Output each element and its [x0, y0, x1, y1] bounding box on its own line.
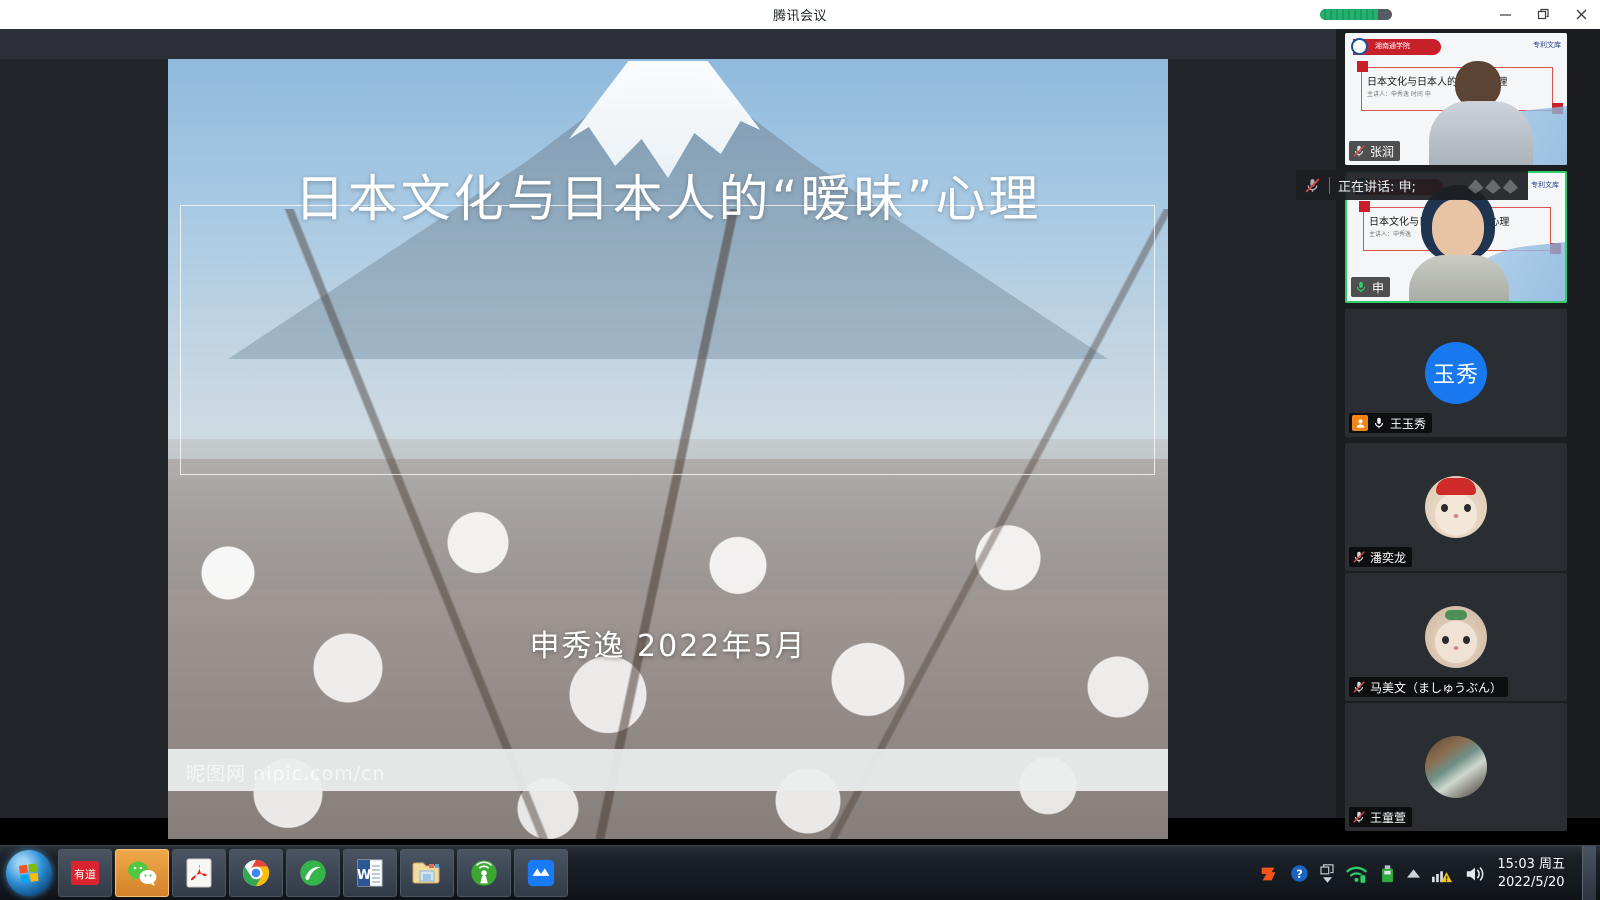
windows-start-orb-icon[interactable] [6, 850, 52, 896]
minimize-button[interactable] [1486, 0, 1524, 29]
participant-badge: 王玉秀 [1349, 413, 1432, 433]
audio-level-meter [1320, 9, 1392, 20]
taskbar-item-radio-app[interactable] [457, 849, 511, 897]
taskbar-item-360-browser[interactable] [286, 849, 340, 897]
mic-muted-icon [1352, 550, 1366, 564]
slide-watermark: 昵图网 nipic.com/cn [186, 759, 386, 786]
participant-tile[interactable]: 马美文（ましゅうぶん） [1345, 573, 1567, 701]
taskbar-item-file-explorer[interactable] [400, 849, 454, 897]
participant-badge: 王童萱 [1349, 807, 1412, 827]
slide-title: 日本文化与日本人的“暧昧”心理 [168, 159, 1168, 231]
thumb-banner-text: 湘南通学院 [1375, 41, 1410, 51]
participant-tile[interactable]: 王童萱 [1345, 703, 1567, 831]
avatar [1425, 736, 1487, 798]
participant-name: 张润 [1370, 143, 1394, 160]
participant-name: 潘奕龙 [1370, 549, 1406, 566]
show-desktop-button[interactable] [1582, 846, 1596, 900]
toast-decoration-icon [1464, 174, 1522, 196]
system-tray[interactable]: ? [1259, 846, 1600, 900]
avatar-eye-right [1463, 636, 1470, 644]
thumb-subtitle: 主讲人：申秀逸 时间 申 [1367, 89, 1431, 98]
slide-title-frame [180, 205, 1155, 475]
host-icon [1352, 415, 1368, 431]
mic-on-icon [1372, 416, 1386, 430]
participant-badge: 申 [1351, 277, 1390, 297]
title-bar: 腾讯会议 [0, 0, 1600, 29]
participant-badge: 张润 [1349, 141, 1400, 161]
windows-taskbar[interactable]: 有道 [0, 845, 1600, 900]
meeting-app-window: 腾讯会议 [0, 0, 1600, 900]
thumb-square-marker [1359, 201, 1370, 212]
thumb-square-marker [1357, 61, 1368, 72]
avatar-eye-right [1464, 504, 1471, 512]
mic-on-icon [1354, 280, 1368, 294]
taskbar-item-chrome[interactable] [229, 849, 283, 897]
close-button[interactable] [1562, 0, 1600, 29]
usb-tray-icon[interactable] [1379, 864, 1396, 884]
avatar-nose [1454, 514, 1459, 518]
avatar [1425, 476, 1487, 538]
show-hidden-icons[interactable] [1407, 869, 1420, 878]
participant-tile[interactable]: 潘奕龙 [1345, 443, 1567, 571]
shared-screen-area: 日本文化与日本人的“暧昧”心理 申秀逸 2022年5月 昵图网 nipic.co… [0, 29, 1336, 818]
participant-panel[interactable]: 湘南通学院 专利文库 日本文化与日本人的“暧昧”心理 主讲人：申秀逸 时间 申 [1336, 29, 1600, 818]
presentation-slide: 日本文化与日本人的“暧昧”心理 申秀逸 2022年5月 昵图网 nipic.co… [168, 59, 1168, 839]
clock-time: 15:03 周五 [1497, 856, 1565, 874]
clock-date: 2022/5/20 [1497, 874, 1565, 892]
mic-muted-icon [1352, 810, 1366, 824]
taskbar-item-word[interactable]: W [343, 849, 397, 897]
avatar-hat [1436, 478, 1476, 495]
thumb-corner-text: 专利文库 [1533, 40, 1561, 50]
participant-badge: 潘奕龙 [1349, 547, 1412, 567]
avatar-nose [1454, 646, 1459, 650]
taskbar-item-adobe-reader[interactable] [172, 849, 226, 897]
participant-video-body [1409, 255, 1509, 303]
taskbar-item-youdao[interactable]: 有道 [58, 849, 112, 897]
window-tray-icon[interactable] [1320, 864, 1334, 883]
chevron-down-icon[interactable] [1323, 877, 1332, 883]
taskbar-buttons[interactable]: 有道 [58, 849, 568, 897]
toast-divider [1329, 177, 1330, 194]
sogou-tray-icon[interactable] [1259, 864, 1279, 884]
participant-name: 马美文（ましゅうぶん） [1370, 679, 1502, 696]
participant-name: 王童萱 [1370, 809, 1406, 826]
avatar [1425, 606, 1487, 668]
help-tray-icon[interactable]: ? [1290, 864, 1309, 883]
svg-text:有道: 有道 [74, 867, 96, 881]
network-warning-icon[interactable] [1431, 864, 1453, 884]
participant-video-body [1429, 101, 1533, 165]
avatar-initials: 玉秀 [1433, 357, 1479, 389]
share-top-strip [0, 29, 1336, 59]
speaking-toast-text: 正在讲话: 申; [1338, 176, 1416, 195]
participant-tile[interactable]: 湘南通学院 专利文库 日本文化与日本人的“暧昧”心理 主讲人：申秀逸 时间 申 [1345, 33, 1567, 165]
participant-video-face [1432, 199, 1484, 259]
volume-icon[interactable] [1464, 864, 1486, 884]
restore-button[interactable] [1524, 0, 1562, 29]
taskbar-clock[interactable]: 15:03 周五 2022/5/20 [1497, 856, 1565, 891]
window-controls [1486, 0, 1600, 29]
participant-name: 王玉秀 [1390, 415, 1426, 432]
wifi-tray-icon[interactable] [1345, 864, 1368, 884]
avatar-eye-left [1441, 504, 1448, 512]
mic-muted-icon [1352, 680, 1366, 694]
svg-text:?: ? [1297, 868, 1304, 881]
taskbar-item-wechat[interactable] [115, 849, 169, 897]
thumb-subtitle: 主讲人：申秀逸 [1369, 229, 1411, 238]
institution-logo-icon [1351, 38, 1368, 55]
avatar: 玉秀 [1425, 342, 1487, 404]
participant-tile[interactable]: 玉秀 王玉秀 [1345, 309, 1567, 437]
mic-muted-icon [1304, 177, 1321, 194]
participant-name: 申 [1372, 279, 1384, 296]
audio-level-fill [1320, 9, 1378, 20]
taskbar-item-tencent-meeting[interactable] [514, 849, 568, 897]
thumb-corner-text: 专利文库 [1531, 180, 1559, 190]
participant-badge: 马美文（ましゅうぶん） [1349, 677, 1508, 697]
speaking-toast: 正在讲话: 申; [1296, 170, 1528, 200]
svg-text:W: W [357, 868, 371, 883]
avatar-eye-left [1442, 636, 1449, 644]
avatar-hat [1445, 610, 1467, 620]
mic-muted-icon [1352, 144, 1366, 158]
slide-subtitle: 申秀逸 2022年5月 [168, 621, 1168, 665]
